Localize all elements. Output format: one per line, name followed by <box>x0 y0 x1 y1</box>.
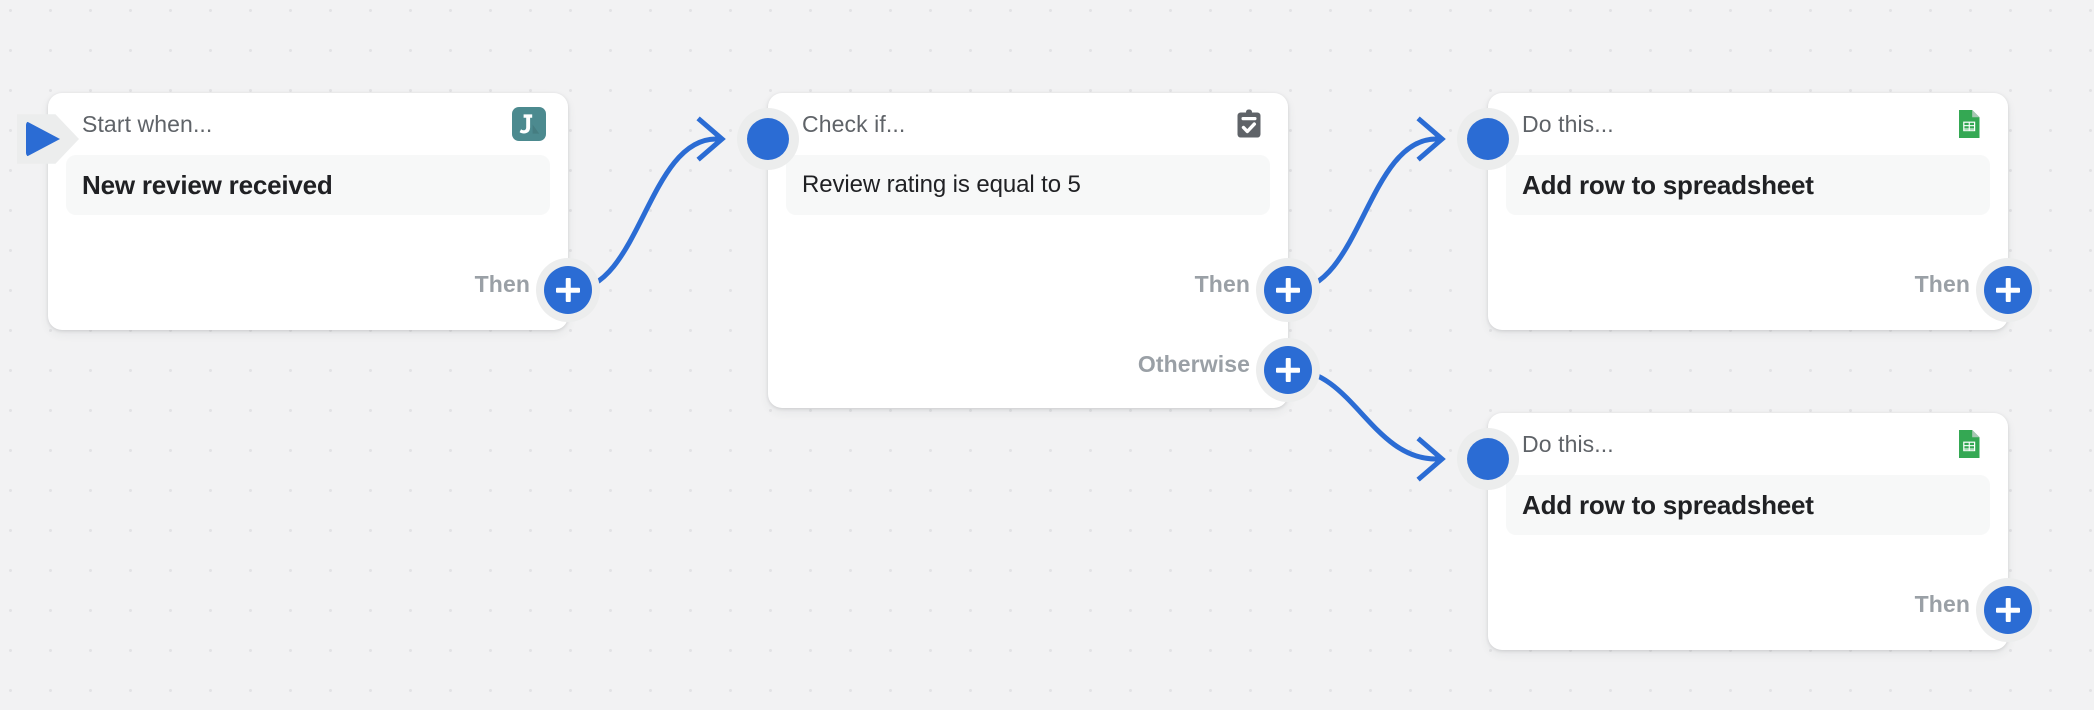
branch-row-then: Then <box>768 258 1288 310</box>
card-header: Start when... <box>48 93 568 155</box>
card-body[interactable]: Review rating is equal to 5 <box>786 155 1270 215</box>
card-kicker-label: Do this... <box>1522 431 1614 458</box>
workflow-start-marker <box>17 108 79 170</box>
branch-row-then: Then <box>48 258 568 310</box>
branch-label: Then <box>1915 271 1970 298</box>
card-body[interactable]: New review received <box>66 155 550 215</box>
google-sheets-icon <box>1952 427 1986 461</box>
add-step-button-then[interactable] <box>1256 258 1320 322</box>
branch-row-then: Then <box>1488 578 2008 630</box>
input-connector-dot <box>1467 438 1509 480</box>
workflow-canvas[interactable]: Start when... New review received Then C… <box>0 0 2094 710</box>
card-kicker-label: Start when... <box>82 111 212 138</box>
plus-icon <box>1984 266 2032 314</box>
branch-row-then: Then <box>1488 258 2008 310</box>
input-connector-dot <box>747 118 789 160</box>
card-header: Check if... <box>768 93 1288 155</box>
connector-arrowhead <box>1420 440 1442 478</box>
add-step-button-otherwise[interactable] <box>1256 338 1320 402</box>
google-sheets-icon <box>1952 107 1986 141</box>
plus-icon <box>544 266 592 314</box>
branch-label: Otherwise <box>1138 351 1250 378</box>
input-connector-dot <box>1467 118 1509 160</box>
card-title: Review rating is equal to 5 <box>802 171 1081 199</box>
add-step-button-then[interactable] <box>1976 258 2040 322</box>
add-step-button-then[interactable] <box>1976 578 2040 642</box>
workflow-card-action-otherwise[interactable]: Do this... Add row to spreadsheet Then <box>1488 413 2008 650</box>
card-title: Add row to spreadsheet <box>1522 170 1814 201</box>
branch-label: Then <box>1915 591 1970 618</box>
add-step-button-then[interactable] <box>536 258 600 322</box>
workflow-card-action-then[interactable]: Do this... Add row to spreadsheet Then <box>1488 93 2008 330</box>
node-input-connector[interactable] <box>1457 108 1519 170</box>
node-input-connector[interactable] <box>737 108 799 170</box>
jotform-icon <box>512 107 546 141</box>
card-kicker-label: Do this... <box>1522 111 1614 138</box>
plus-icon <box>1264 266 1312 314</box>
card-header: Do this... <box>1488 413 2008 475</box>
plus-icon <box>1984 586 2032 634</box>
branch-label: Then <box>1195 271 1250 298</box>
card-body[interactable]: Add row to spreadsheet <box>1506 155 1990 215</box>
workflow-card-trigger[interactable]: Start when... New review received Then <box>48 93 568 330</box>
branch-label: Then <box>475 271 530 298</box>
card-title: Add row to spreadsheet <box>1522 490 1814 521</box>
card-title: New review received <box>82 170 333 201</box>
connector-arrowhead <box>1420 120 1442 158</box>
card-kicker-label: Check if... <box>802 111 905 138</box>
card-body[interactable]: Add row to spreadsheet <box>1506 475 1990 535</box>
connector-arrowhead <box>700 120 722 158</box>
workflow-card-condition[interactable]: Check if... Review rating is equal to 5 … <box>768 93 1288 408</box>
plus-icon <box>1264 346 1312 394</box>
branch-row-otherwise: Otherwise <box>768 338 1288 390</box>
card-header: Do this... <box>1488 93 2008 155</box>
node-input-connector[interactable] <box>1457 428 1519 490</box>
clipboard-check-icon <box>1232 107 1266 141</box>
